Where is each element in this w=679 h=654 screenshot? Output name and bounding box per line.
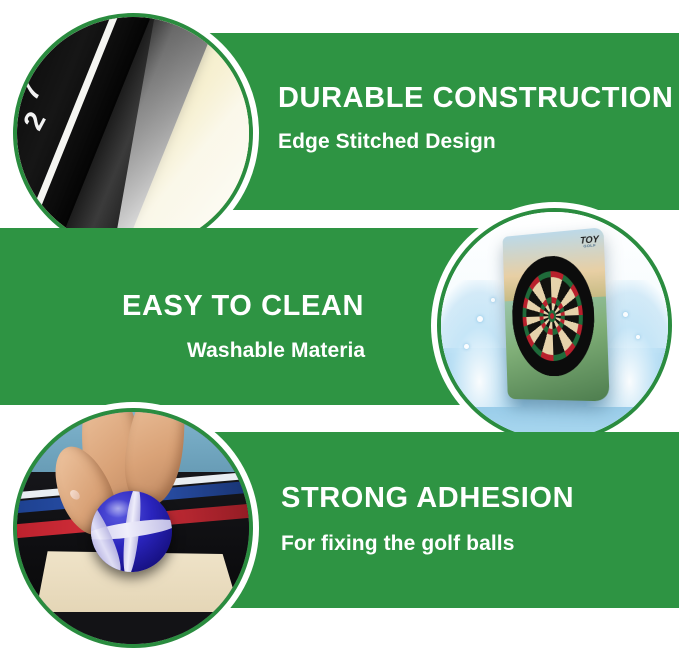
feature-subheading-durable-construction: Edge Stitched Design [278,131,496,152]
feature-photo-edge-stitched-border: 7 2 [13,13,253,253]
mat-foreground-edge [17,612,249,644]
infographic-canvas: DURABLE CONSTRUCTION Edge Stitched Desig… [0,0,679,653]
water-droplet [636,335,640,339]
water-droplet [464,344,469,349]
feature-band-durable-construction [190,33,679,210]
edge-stitched-border-photo: 7 2 [17,17,249,249]
dartboard-mat: TOY GOLF [503,228,611,402]
toy-brand-logo: TOY GOLF [580,235,599,249]
water-droplet [623,312,628,317]
feature-subheading-strong-adhesion: For fixing the golf balls [281,533,515,554]
feature-heading-easy-to-clean: EASY TO CLEAN [122,292,364,321]
feature-band-strong-adhesion [190,432,679,608]
thumb-nail [68,488,82,502]
velcro-golf-ball [91,491,172,572]
hand-placing-golf-ball-photo [17,412,249,644]
feature-subheading-easy-to-clean: Washable Materia [187,340,365,361]
feature-heading-strong-adhesion: STRONG ADHESION [281,484,574,513]
dartboard-water-splash-photo: TOY GOLF [441,212,668,439]
feature-photo-golf-ball-adhesion [13,408,253,648]
feature-photo-dartboard-in-water: TOY GOLF [437,208,672,443]
feature-heading-durable-construction: DURABLE CONSTRUCTION [278,84,673,113]
